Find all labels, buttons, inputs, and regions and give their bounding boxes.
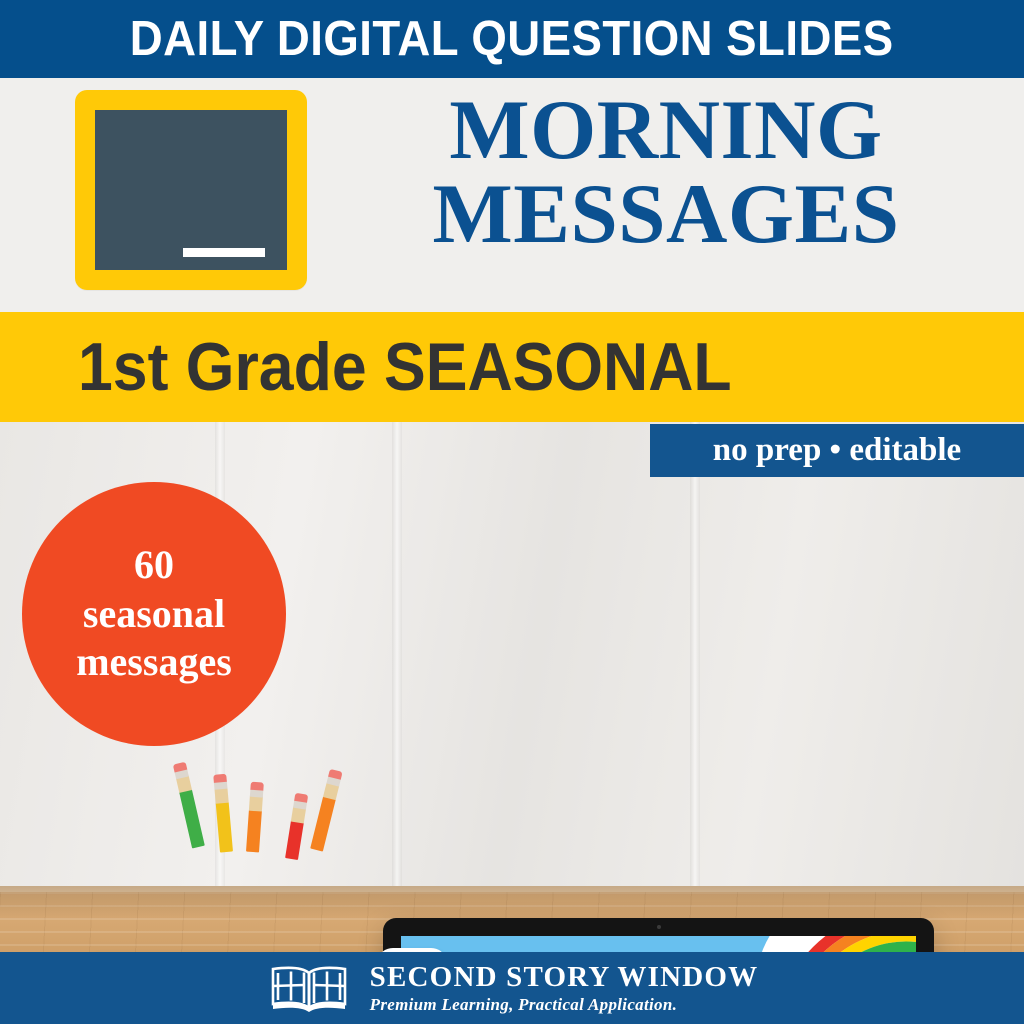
page-title-line1: MORNING (330, 88, 1002, 172)
chalk-stick-icon (183, 248, 265, 257)
wall-seam (392, 418, 402, 898)
hero-section: MORNING MESSAGES (0, 78, 1024, 312)
feature-tag-text: no prep • editable (713, 432, 961, 469)
chalkboard-surface (95, 110, 287, 270)
top-banner: DAILY DIGITAL QUESTION SLIDES (0, 0, 1024, 78)
count-badge-line3: messages (76, 638, 232, 687)
footer-text-group: SECOND STORY WINDOW Premium Learning, Pr… (370, 963, 759, 1013)
chalkboard-icon (75, 90, 307, 290)
count-badge: 60 seasonal messages (22, 482, 286, 746)
brand-tagline: Premium Learning, Practical Application. (370, 996, 759, 1013)
count-badge-line2: seasonal (83, 590, 225, 639)
webcam-icon (657, 925, 661, 929)
grade-band-text: 1st Grade SEASONAL (78, 328, 732, 406)
page-title-line2: MESSAGES (330, 172, 1002, 256)
footer-bar: SECOND STORY WINDOW Premium Learning, Pr… (0, 952, 1024, 1024)
wall-seam (690, 418, 700, 898)
product-cover: MARVELOUS MONDAY Would you rather slide … (0, 0, 1024, 1024)
count-badge-number: 60 (134, 541, 174, 590)
brand-name: SECOND STORY WINDOW (370, 963, 759, 992)
feature-tag: no prep • editable (650, 424, 1024, 477)
grade-band: 1st Grade SEASONAL (0, 312, 1024, 422)
open-book-window-logo-icon (266, 964, 352, 1012)
page-title: MORNING MESSAGES (330, 88, 1002, 256)
desk-shadow (0, 886, 1024, 920)
top-banner-text: DAILY DIGITAL QUESTION SLIDES (130, 11, 894, 67)
